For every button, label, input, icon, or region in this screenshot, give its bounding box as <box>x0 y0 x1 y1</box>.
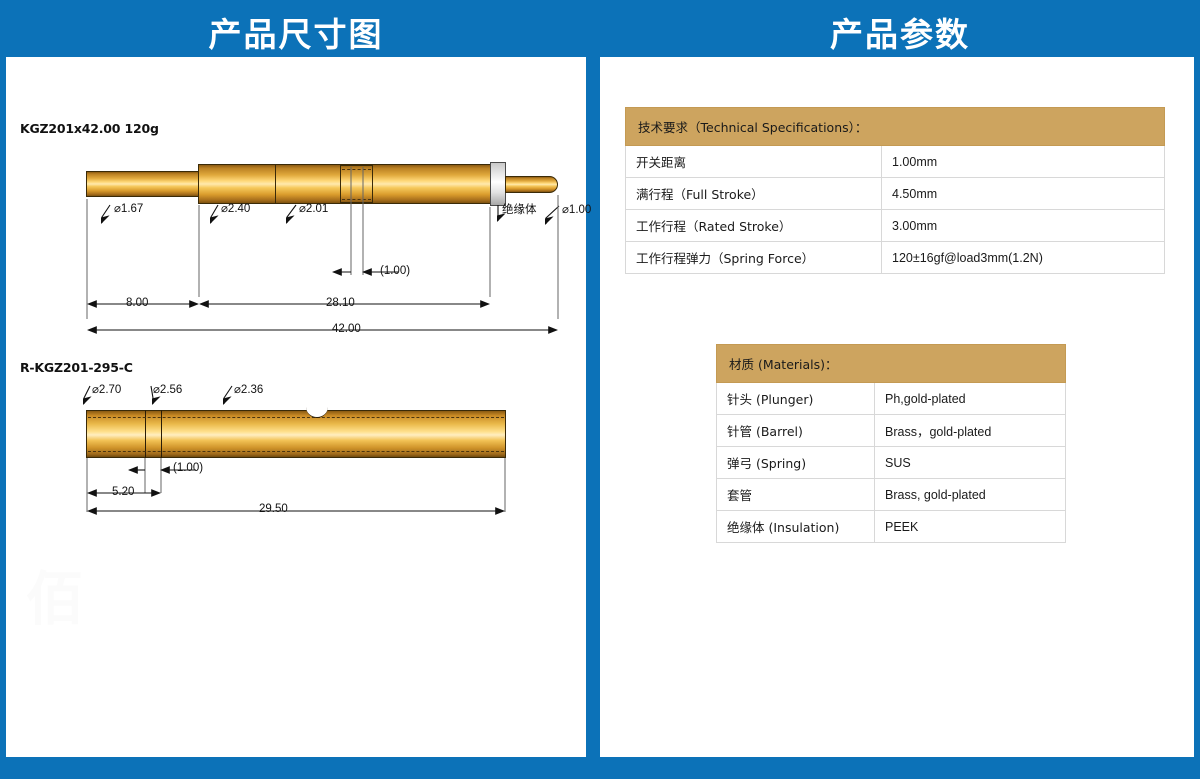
drawing-kgz201: KGZ201x42.00 120g ⌀1.67 ⌀2.40 ⌀2.01 绝缘体 … <box>6 57 586 297</box>
table-row: 针头 (Plunger) Ph,gold-plated <box>717 383 1066 415</box>
table-row: 开关距离 1.00mm <box>626 146 1165 178</box>
parameters-panel: 技术要求（Technical Specifications）： 开关距离 1.0… <box>600 57 1194 757</box>
drawing-r-kgz201-295-c: R-KGZ201-295-C ⌀2.70 ⌀2.56 ⌀2.36 (1.00) … <box>6 300 586 530</box>
spec-label-switch-distance: 开关距离 <box>626 146 882 178</box>
material-label-insulation: 绝缘体 (Insulation) <box>717 511 875 543</box>
material-value-barrel: Brass，gold-plated <box>875 415 1066 447</box>
table-row: 满行程（Full Stroke） 4.50mm <box>626 178 1165 210</box>
material-value-plunger: Ph,gold-plated <box>875 383 1066 415</box>
material-label-sleeve: 套管 <box>717 479 875 511</box>
spec-value-switch-distance: 1.00mm <box>882 146 1165 178</box>
table-row: 绝缘体 (Insulation) PEEK <box>717 511 1066 543</box>
technical-specifications-table: 技术要求（Technical Specifications）： 开关距离 1.0… <box>625 107 1165 274</box>
material-value-sleeve: Brass, gold-plated <box>875 479 1066 511</box>
header-band: 产品尺寸图 产品参数 <box>0 0 1200 57</box>
left-panel-title: 产品尺寸图 <box>0 8 592 56</box>
right-panel-title: 产品参数 <box>600 8 1200 56</box>
spec-table-header-row: 技术要求（Technical Specifications）： <box>626 108 1165 146</box>
spec-value-rated-stroke: 3.00mm <box>882 210 1165 242</box>
spec-value-full-stroke: 4.50mm <box>882 178 1165 210</box>
materials-table: 材质 (Materials)： 针头 (Plunger) Ph,gold-pla… <box>716 344 1066 543</box>
material-label-barrel: 针管 (Barrel) <box>717 415 875 447</box>
table-row: 套管 Brass, gold-plated <box>717 479 1066 511</box>
materials-table-header-row: 材质 (Materials)： <box>717 345 1066 383</box>
spec-label-full-stroke: 满行程（Full Stroke） <box>626 178 882 210</box>
spec-label-rated-stroke: 工作行程（Rated Stroke） <box>626 210 882 242</box>
product-spec-page: 产品尺寸图 产品参数 佰 KGZ201x42.00 120g ⌀1.67 ⌀2.… <box>0 0 1200 779</box>
spec-value-spring-force: 120±16gf@load3mm(1.2N) <box>882 242 1165 274</box>
material-label-plunger: 针头 (Plunger) <box>717 383 875 415</box>
material-label-spring: 弹弓 (Spring) <box>717 447 875 479</box>
materials-table-header: 材质 (Materials)： <box>717 345 1066 383</box>
table-row: 工作行程（Rated Stroke） 3.00mm <box>626 210 1165 242</box>
material-value-spring: SUS <box>875 447 1066 479</box>
dimension-drawing-panel: 佰 KGZ201x42.00 120g ⌀1.67 ⌀2.40 ⌀2.01 绝缘… <box>6 57 586 757</box>
table-row: 针管 (Barrel) Brass，gold-plated <box>717 415 1066 447</box>
material-value-insulation: PEEK <box>875 511 1066 543</box>
table-row: 弹弓 (Spring) SUS <box>717 447 1066 479</box>
drawing2-annotation-lines <box>6 300 586 530</box>
spec-label-spring-force: 工作行程弹力（Spring Force） <box>626 242 882 274</box>
watermark-text: 佰 <box>26 552 84 636</box>
spec-table-header: 技术要求（Technical Specifications）： <box>626 108 1165 146</box>
table-row: 工作行程弹力（Spring Force） 120±16gf@load3mm(1.… <box>626 242 1165 274</box>
